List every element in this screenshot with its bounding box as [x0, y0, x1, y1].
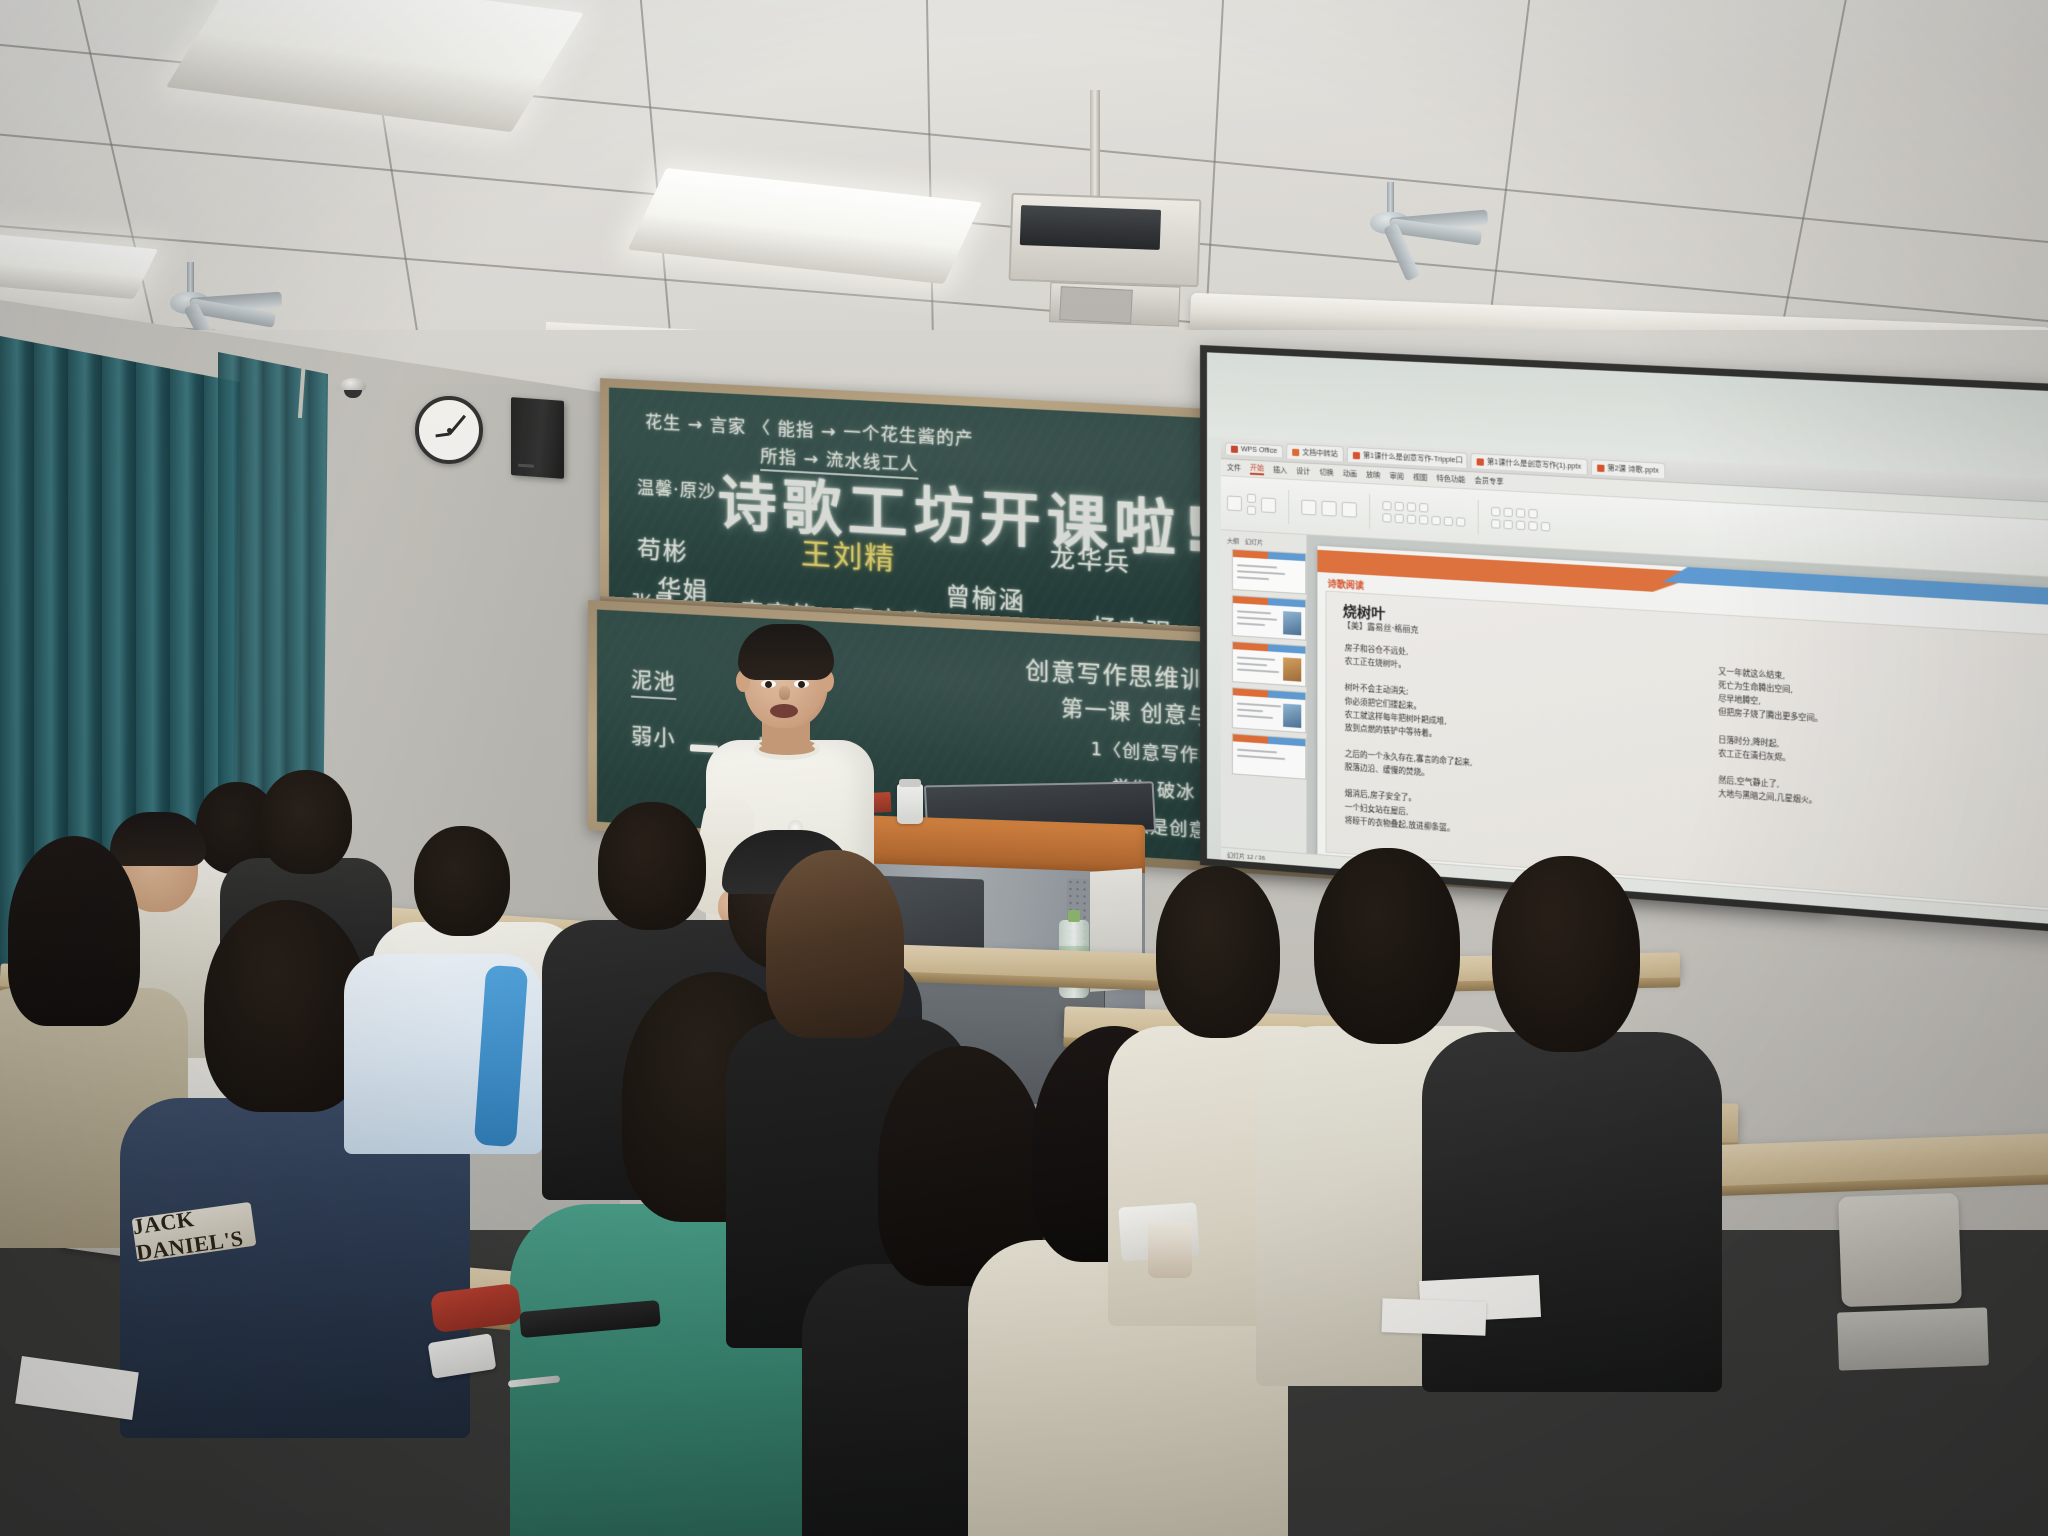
- indent-decrease-icon[interactable]: [1516, 508, 1525, 518]
- projector: [1009, 193, 1202, 288]
- bb-name-goubin: 苟彬: [637, 529, 688, 567]
- teacher-mouth: [770, 704, 798, 718]
- ribbon-group-clipboard[interactable]: [1227, 492, 1276, 516]
- wps-menu-design[interactable]: 设计: [1296, 466, 1310, 477]
- ribbon-group-slides[interactable]: [1301, 500, 1357, 518]
- line-spacing-icon[interactable]: [1541, 522, 1550, 532]
- numbered-list-icon[interactable]: [1504, 508, 1513, 518]
- copy-icon[interactable]: [1247, 506, 1256, 516]
- bb-top-header-line-2: 所指 → 流水线工人: [760, 442, 918, 480]
- highlight-icon[interactable]: [1456, 517, 1465, 527]
- bb-name-zengyuhan: 曾榆涵: [945, 576, 1025, 617]
- thumb-tab-outline[interactable]: 大纲: [1227, 536, 1239, 546]
- justify-icon[interactable]: [1528, 521, 1537, 531]
- align-right-icon[interactable]: [1516, 520, 1525, 530]
- bb-top-header-line-1: 花生 → 言家 〈 能指 → 一个花生酱的产: [645, 407, 974, 450]
- slide-thumbnail[interactable]: [1232, 595, 1306, 641]
- slide-counter: 幻灯片 12 / 36: [1227, 850, 1265, 862]
- paste-icon[interactable]: [1227, 495, 1242, 511]
- indent-increase-icon[interactable]: [1528, 509, 1537, 519]
- wps-menu-insert[interactable]: 插入: [1273, 465, 1287, 476]
- wps-menu-animation[interactable]: 动画: [1343, 469, 1357, 480]
- font-size-icon[interactable]: [1395, 502, 1404, 512]
- student: [352, 880, 532, 1110]
- classroom-photo: 花生 → 言家 〈 能指 → 一个花生酱的产 所指 → 流水线工人 温馨·原沙 …: [0, 0, 2048, 1536]
- wps-menu-review[interactable]: 审阅: [1390, 471, 1404, 482]
- slide-thumbnail[interactable]: [1232, 549, 1306, 595]
- format-painter-icon[interactable]: [1261, 497, 1276, 513]
- wps-tab-1[interactable]: 文档中转站: [1286, 443, 1344, 461]
- wps-menu-slideshow[interactable]: 放映: [1366, 470, 1380, 481]
- wps-menu-file[interactable]: 文件: [1227, 462, 1241, 473]
- slide-thumbnail[interactable]: [1232, 733, 1306, 779]
- wall-clock: [415, 396, 483, 464]
- student: [1470, 856, 1660, 1256]
- slide-thumbnail-pane[interactable]: 大纲 幻灯片: [1221, 530, 1307, 866]
- dome-camera-icon: [340, 378, 366, 394]
- poem-author: 【美】露易丝·格丽克: [1343, 620, 1419, 636]
- slide-thumbnail[interactable]: [1232, 687, 1306, 733]
- ribbon-group-paragraph[interactable]: [1491, 507, 1550, 532]
- wps-tab-0-label: WPS Office: [1241, 446, 1277, 455]
- wps-tab-0[interactable]: WPS Office: [1225, 442, 1283, 457]
- ceiling-vent: [1059, 286, 1133, 324]
- text-shadow-icon[interactable]: [1431, 516, 1440, 526]
- projector-pole: [1090, 90, 1100, 205]
- wall-speaker: [511, 397, 564, 479]
- bold-icon[interactable]: [1382, 513, 1391, 523]
- bullet-list-icon[interactable]: [1491, 507, 1500, 517]
- bb-top-side-note: 温馨·原沙: [637, 473, 716, 503]
- drink-cup: [1148, 1222, 1192, 1278]
- projection-screen: WPS Office 文档中转站 第1课什么是创意写作-Tripple口 第1课…: [1200, 345, 2048, 935]
- poem-column-left: 房子和谷仓不远处, 农工正在烧树叶。 树叶不会主动消失; 你必须把它们搂起来。 …: [1345, 641, 1675, 851]
- projection-surface: WPS Office 文档中转站 第1课什么是创意写作-Tripple口 第1课…: [1207, 352, 2048, 927]
- wps-tab-2-label: 第1课什么是创意写作-Tripple口: [1363, 450, 1463, 465]
- slide-section-badge: 诗歌阅读: [1328, 577, 1365, 592]
- new-slide-icon[interactable]: [1301, 500, 1316, 516]
- wps-tab-3[interactable]: 第1课什么是创意写作(1).pptx: [1471, 453, 1588, 474]
- bb-top-title: 诗歌工坊开课啦!: [718, 455, 1217, 569]
- wps-tab-2[interactable]: 第1课什么是创意写作-Tripple口: [1347, 447, 1468, 468]
- layout-icon[interactable]: [1321, 501, 1336, 517]
- paper-cup: [897, 784, 923, 824]
- bb-bot-word-nichi: 泥池: [631, 663, 676, 700]
- wps-tab-1-label: 文档中转站: [1302, 447, 1337, 459]
- shrink-font-icon[interactable]: [1419, 503, 1428, 513]
- strikethrough-icon[interactable]: [1419, 515, 1428, 525]
- ribbon-group-font[interactable]: [1382, 501, 1465, 527]
- desk-side-panel: [1837, 1307, 1989, 1370]
- bb-name-wangliujing: 王刘精: [801, 531, 896, 579]
- wps-menu-member[interactable]: 会员专享: [1475, 475, 1504, 487]
- paper-sheet: [1381, 1298, 1486, 1336]
- font-color-icon[interactable]: [1444, 516, 1453, 526]
- section-icon[interactable]: [1342, 502, 1357, 518]
- wps-menu-features[interactable]: 特色功能: [1437, 473, 1466, 485]
- align-center-icon[interactable]: [1504, 520, 1513, 530]
- wps-tab-3-label: 第1课什么是创意写作(1).pptx: [1487, 457, 1581, 472]
- wps-menu-view[interactable]: 视图: [1413, 472, 1427, 483]
- wps-menu-home[interactable]: 开始: [1250, 463, 1264, 476]
- cut-icon[interactable]: [1247, 494, 1256, 504]
- wps-tab-4[interactable]: 第2课 诗歌.pptx: [1591, 459, 1666, 478]
- poem-column-right: 又一年就这么结束, 死亡为生命腾出空间, 尽早地腾空, 但把房子烧了腾出更多空间…: [1718, 665, 2048, 825]
- teacher-hair: [738, 624, 834, 680]
- italic-icon[interactable]: [1395, 514, 1404, 524]
- student-chair: [1838, 1193, 1962, 1307]
- align-left-icon[interactable]: [1491, 519, 1500, 529]
- slide-thumbnail[interactable]: [1232, 641, 1306, 687]
- wps-tab-4-label: 第2课 诗歌.pptx: [1607, 463, 1659, 476]
- student: [0, 836, 160, 1136]
- font-family-icon[interactable]: [1382, 501, 1391, 511]
- bb-name-longhuabing: 龙华兵: [1050, 537, 1131, 578]
- grow-font-icon[interactable]: [1407, 502, 1416, 512]
- underline-icon[interactable]: [1407, 514, 1416, 524]
- wps-menu-transition[interactable]: 切换: [1319, 467, 1333, 478]
- thumb-tab-slides[interactable]: 幻灯片: [1245, 537, 1263, 547]
- bb-bot-word-ruoxiao: 弱小: [631, 720, 676, 753]
